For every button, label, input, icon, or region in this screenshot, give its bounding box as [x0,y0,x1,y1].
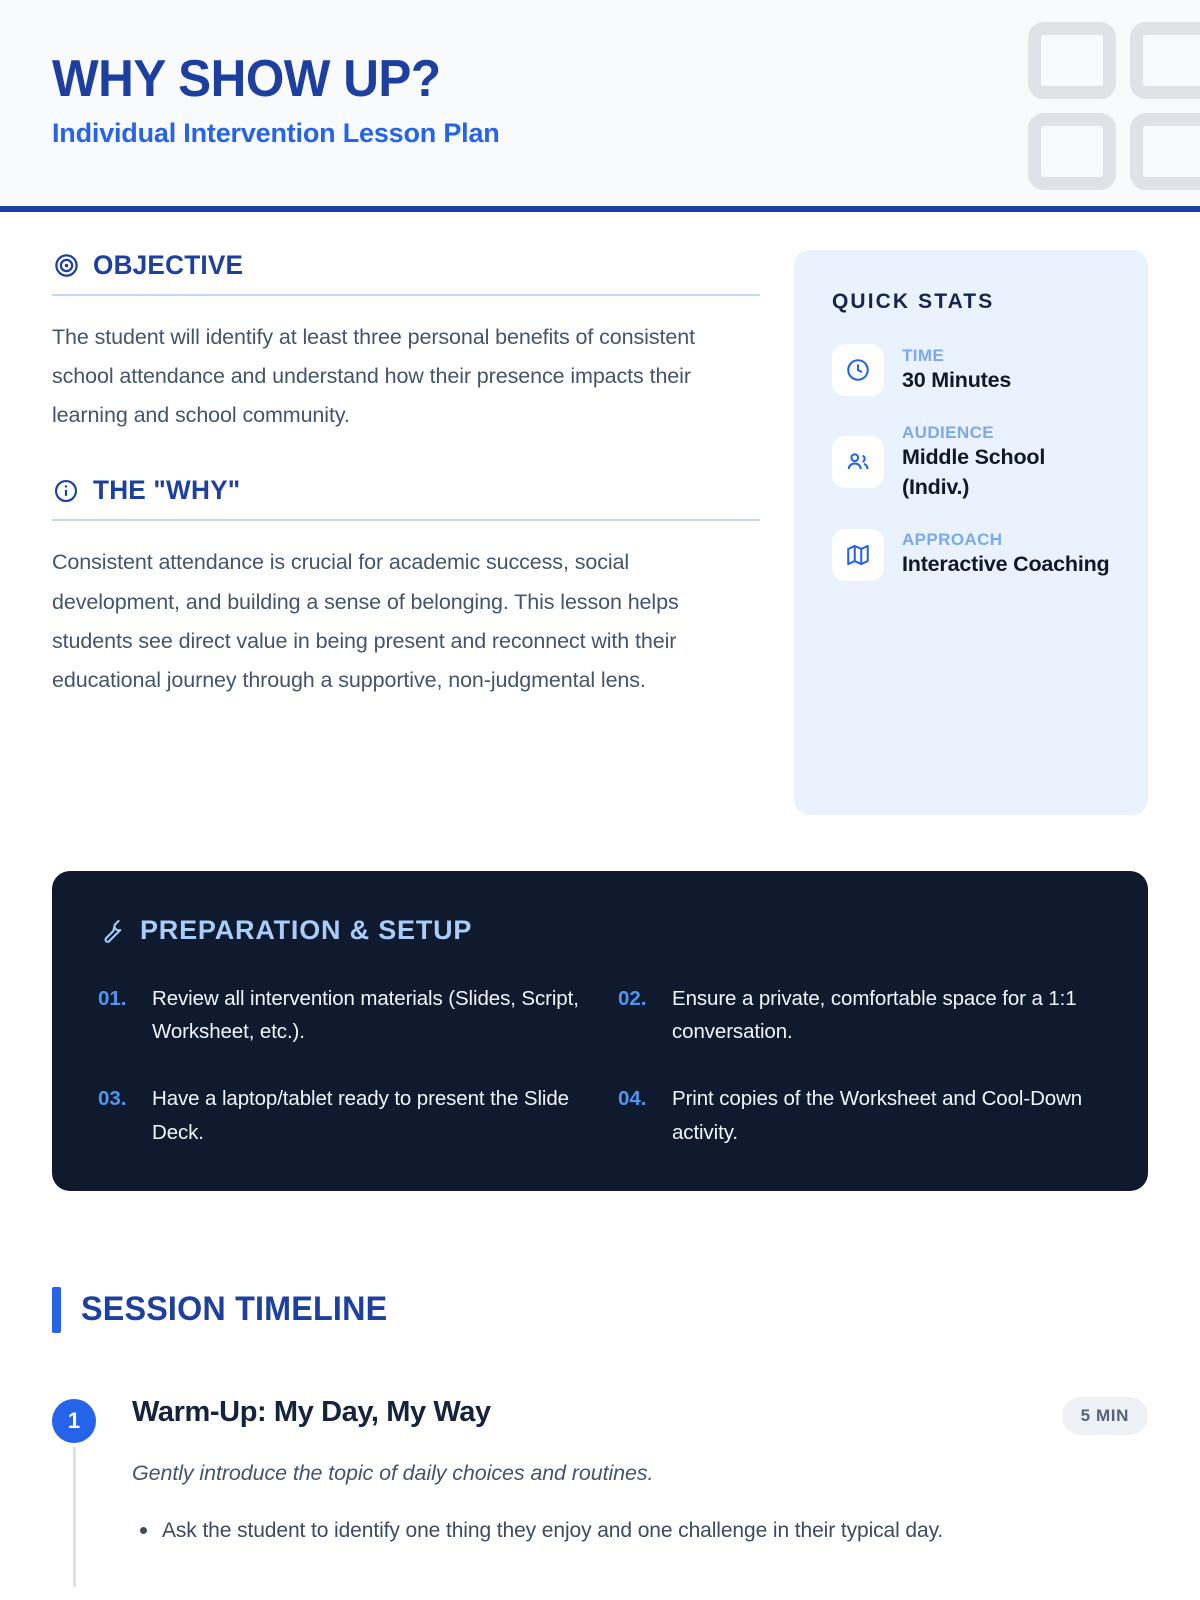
why-divider [52,519,760,521]
quick-stat-value-approach: Interactive Coaching [902,550,1118,580]
quick-stat-item-approach: APPROACH Interactive Coaching [832,529,1118,581]
preparation-heading-row: PREPARATION & SETUP [98,915,1102,946]
timeline-item-header: Warm-Up: My Day, My Way 5 MIN [132,1395,1148,1435]
timeline-item: 1 Warm-Up: My Day, My Way 5 MIN Gently i… [52,1395,1148,1548]
why-heading: THE "WHY" [93,475,240,506]
preparation-item-number: 04. [618,1082,658,1115]
list-item: Ask the student to identify one thing th… [132,1514,1148,1548]
intro-row: OBJECTIVE The student will identify at l… [52,212,1148,815]
preparation-heading: PREPARATION & SETUP [140,915,472,946]
quick-stat-label-approach: APPROACH [902,530,1003,549]
preparation-item: 04. Print copies of the Worksheet and Co… [618,1082,1102,1148]
quick-stat-text-time: TIME 30 Minutes [902,345,1118,396]
objective-heading: OBJECTIVE [93,250,243,281]
target-icon [52,252,80,280]
grid-square-3 [1028,113,1116,190]
quick-stat-text-approach: APPROACH Interactive Coaching [902,529,1118,580]
quick-stat-text-audience: AUDIENCE Middle School (Indiv.) [902,422,1118,503]
preparation-item-number: 01. [98,982,138,1015]
timeline-step-badge: 1 [52,1399,96,1443]
intro-right-column: QUICK STATS TIME 30 Minutes [794,250,1148,815]
preparation-item: 02. Ensure a private, comfortable space … [618,982,1102,1048]
why-body: Consistent attendance is crucial for aca… [52,543,760,700]
quick-stat-value-audience: Middle School (Indiv.) [902,443,1118,502]
document-header: WHY SHOW UP? Individual Intervention Les… [0,0,1200,212]
clock-icon [832,344,884,396]
grid-square-4 [1130,113,1200,190]
accent-bar [52,1287,61,1333]
header-text-group: WHY SHOW UP? Individual Intervention Les… [52,52,500,149]
why-section: THE "WHY" Consistent attendance is cruci… [52,475,760,700]
quick-stat-value-time: 30 Minutes [902,366,1118,396]
intro-left-column: OBJECTIVE The student will identify at l… [52,250,760,700]
objective-divider [52,294,760,296]
preparation-item-text: Ensure a private, comfortable space for … [672,982,1102,1048]
timeline-item-bullets: Ask the student to identify one thing th… [132,1514,1148,1548]
page-title: WHY SHOW UP? [52,52,477,106]
objective-body: The student will identify at least three… [52,318,760,435]
lesson-plan-document: WHY SHOW UP? Individual Intervention Les… [0,0,1200,1600]
session-timeline-section: SESSION TIMELINE 1 Warm-Up: My Day, My W… [52,1287,1148,1548]
document-body: OBJECTIVE The student will identify at l… [0,212,1200,1547]
preparation-list: 01. Review all intervention materials (S… [98,982,1102,1149]
quick-stat-label-time: TIME [902,346,944,365]
preparation-item: 01. Review all intervention materials (S… [98,982,582,1048]
preparation-item-number: 02. [618,982,658,1015]
grid-square-1 [1028,22,1116,99]
session-timeline-heading: SESSION TIMELINE [81,1290,387,1329]
timeline-connector-line [73,1447,76,1588]
quick-stat-item-time: TIME 30 Minutes [832,344,1118,396]
why-heading-row: THE "WHY" [52,475,760,506]
timeline-item-title: Warm-Up: My Day, My Way [132,1395,491,1430]
quick-stat-item-audience: AUDIENCE Middle School (Indiv.) [832,422,1118,503]
preparation-item-number: 03. [98,1082,138,1115]
preparation-section: PREPARATION & SETUP 01. Review all inter… [52,871,1148,1191]
grid-2x2-icon [1028,22,1200,190]
quick-stat-label-audience: AUDIENCE [902,423,994,442]
section-spacer [52,435,760,475]
objective-heading-row: OBJECTIVE [52,250,760,281]
session-timeline-heading-row: SESSION TIMELINE [52,1287,1148,1333]
grid-square-2 [1130,22,1200,99]
preparation-item-text: Print copies of the Worksheet and Cool-D… [672,1082,1102,1148]
preparation-item: 03. Have a laptop/tablet ready to presen… [98,1082,582,1148]
info-circle-icon [52,477,80,505]
preparation-item-text: Have a laptop/tablet ready to present th… [152,1082,582,1148]
objective-section: OBJECTIVE The student will identify at l… [52,250,760,435]
page-subtitle: Individual Intervention Lesson Plan [52,118,500,149]
preparation-item-text: Review all intervention materials (Slide… [152,982,582,1048]
timeline-item-subtitle: Gently introduce the topic of daily choi… [132,1461,1148,1486]
quick-stats-card: QUICK STATS TIME 30 Minutes [794,250,1148,815]
timeline-duration-badge: 5 MIN [1062,1397,1148,1435]
quick-stats-title: QUICK STATS [832,290,1118,314]
wrench-icon [98,917,126,945]
map-icon [832,529,884,581]
users-icon [832,436,884,488]
